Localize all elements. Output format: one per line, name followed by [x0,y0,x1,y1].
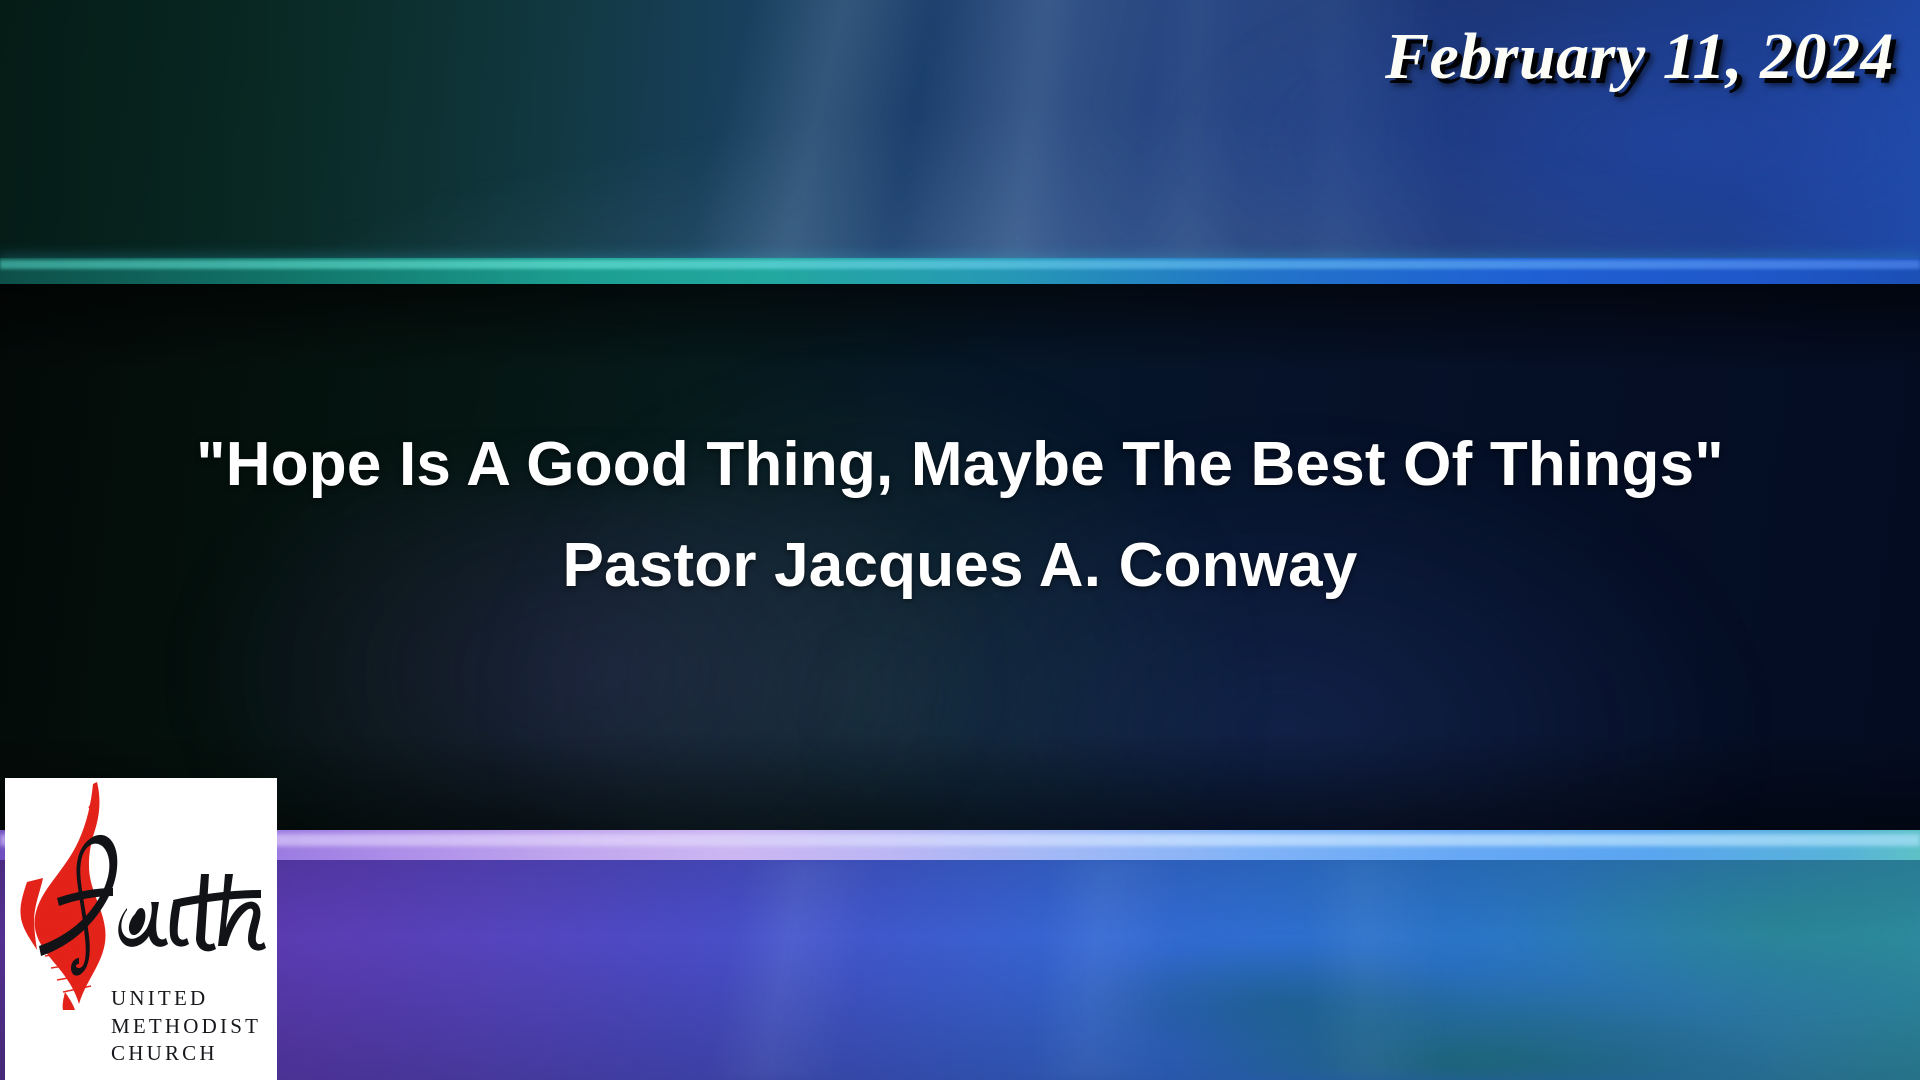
speaker-name: Pastor Jacques A. Conway [0,531,1920,600]
title-block: "Hope Is A Good Thing, Maybe The Best Of… [0,430,1920,601]
lower-accent-strip-highlight [0,834,1920,846]
sermon-title-slide: February 11, 2024 "Hope Is A Good Thing,… [0,0,1920,1080]
church-logo: United Methodist Church [5,778,277,1080]
sermon-title: "Hope Is A Good Thing, Maybe The Best Of… [0,430,1920,499]
logo-wordmark: United Methodist Church [111,985,261,1068]
faith-logo-graphic [5,778,277,1010]
bottom-shade [0,860,1920,1080]
service-date: February 11, 2024 [1385,22,1894,91]
background-bottom-region [0,860,1920,1080]
upper-accent-strip-highlight [0,260,1920,269]
logo-line-united: United [111,985,261,1013]
logo-line-methodist: Methodist [111,1013,261,1041]
logo-line-church: Church [111,1040,261,1068]
